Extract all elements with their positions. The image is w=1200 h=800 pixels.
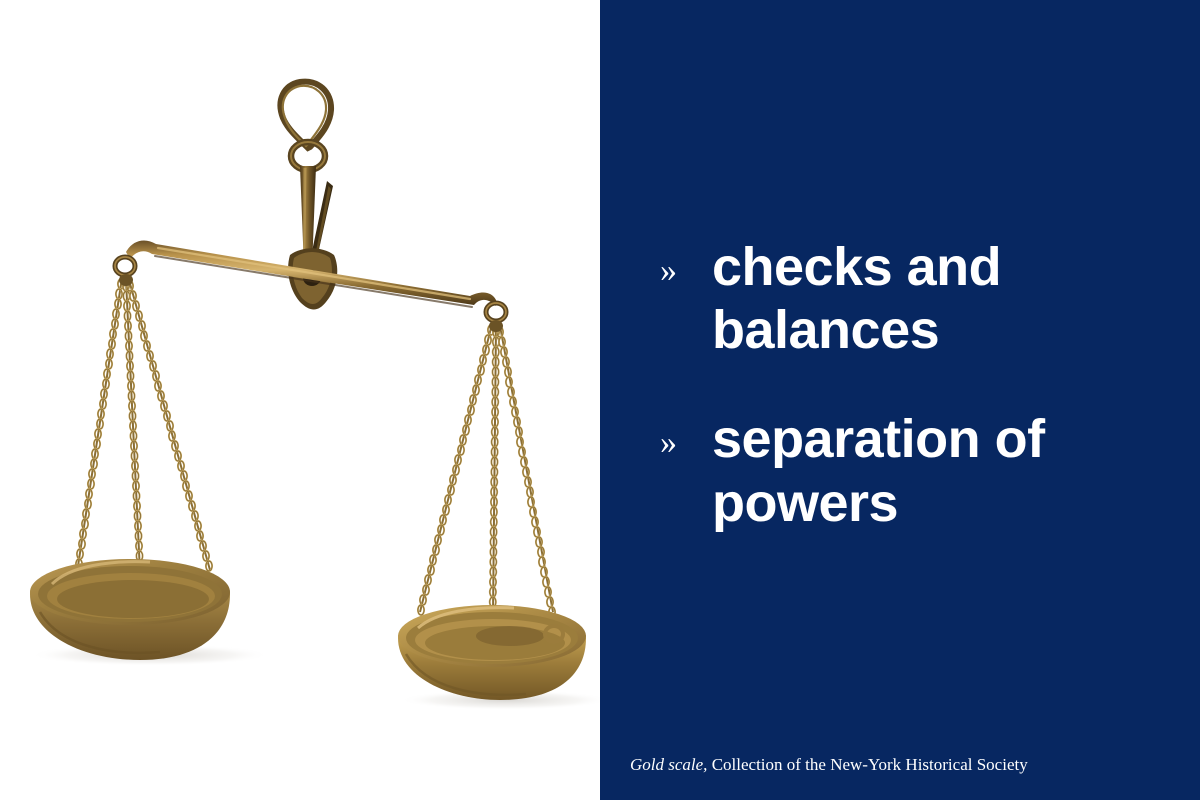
bullet-list: » checks and balances » separation of po… [660, 236, 1160, 535]
caption-credit: Collection of the New-York Historical So… [707, 755, 1027, 774]
caption-title: Gold scale, [630, 755, 707, 774]
bullet-item-separation-of-powers: » separation of powers [660, 408, 1160, 534]
right-chains [418, 320, 555, 617]
bullet-item-checks-and-balances: » checks and balances [660, 236, 1160, 362]
slide: » checks and balances » separation of po… [0, 0, 1200, 800]
bullet-text: separation of powers [712, 408, 1160, 534]
hanging-hook [280, 82, 331, 170]
bullet-text: checks and balances [712, 236, 1160, 362]
double-chevron-icon: » [660, 408, 712, 460]
scale-image-panel [0, 0, 600, 800]
double-chevron-icon: » [660, 236, 712, 288]
right-pan [398, 605, 586, 700]
balance-scale-illustration [0, 0, 600, 800]
left-chains [76, 274, 212, 572]
left-beam-ring [115, 257, 135, 275]
content-panel: » checks and balances » separation of po… [600, 0, 1200, 800]
left-pan [30, 559, 230, 660]
image-credit-caption: Gold scale, Collection of the New-York H… [630, 755, 1170, 775]
